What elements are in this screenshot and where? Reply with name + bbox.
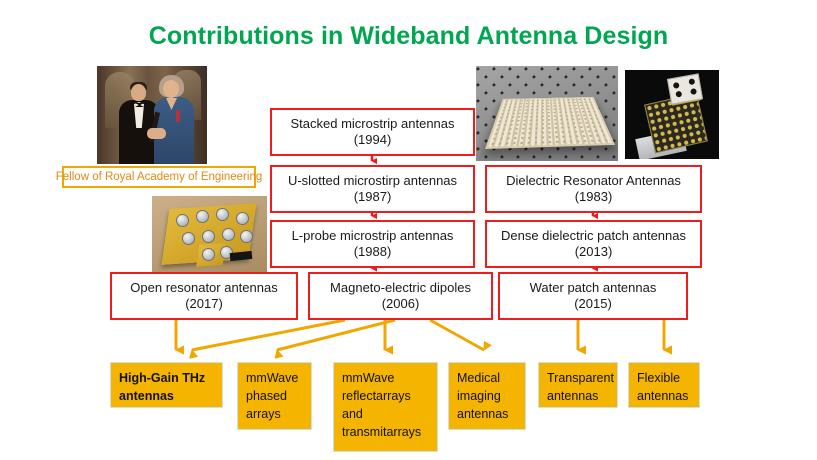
flow-box-year: (2017) (185, 296, 223, 312)
leaf-box-mmwave-reflectarrays-and-transmitarrays[interactable]: mmWave reflectarrays and transmitarrays (333, 362, 438, 452)
flow-box-dielectric-resonator-antennas[interactable]: Dielectric Resonator Antennas (1983) (485, 165, 702, 213)
flow-box-stacked-microstrip-antennas[interactable]: Stacked microstrip antennas (1994) (270, 108, 475, 156)
flow-box-year: (1987) (354, 189, 392, 205)
flow-box-title: L-probe microstrip antennas (292, 228, 454, 244)
leaf-box-high-gain-thz-antennas[interactable]: High-Gain THz antennas (110, 362, 223, 408)
flow-box-title: Dielectric Resonator Antennas (506, 173, 681, 189)
flow-box-dense-dielectric-patch-antennas[interactable]: Dense dielectric patch antennas (2013) (485, 220, 702, 268)
flow-box-water-patch-antennas[interactable]: Water patch antennas (2015) (498, 272, 688, 320)
slide-canvas: Contributions in Wideband Antenna Design (0, 0, 817, 460)
flow-box-year: (1988) (354, 244, 392, 260)
flow-box-l-probe-microstrip-antennas[interactable]: L-probe microstrip antennas (1988) (270, 220, 475, 268)
flow-box-title: Magneto-electric dipoles (330, 280, 471, 296)
flow-box-title: Open resonator antennas (130, 280, 277, 296)
flow-box-title: U-slotted microstirp antennas (288, 173, 457, 189)
flow-box-year: (1994) (354, 132, 392, 148)
flow-box-year: (2015) (574, 296, 612, 312)
flow-box-year: (2006) (382, 296, 420, 312)
leaf-box-mmwave-phased-arrays[interactable]: mmWave phased arrays (237, 362, 312, 430)
flow-box-title: Water patch antennas (530, 280, 657, 296)
flow-box-open-resonator-antennas[interactable]: Open resonator antennas (2017) (110, 272, 298, 320)
flow-box-u-slotted-microstrip-antennas[interactable]: U-slotted microstirp antennas (1987) (270, 165, 475, 213)
flow-box-title: Stacked microstrip antennas (290, 116, 454, 132)
leaf-box-flexible-antennas[interactable]: Flexible antennas (628, 362, 700, 408)
flow-box-title: Dense dielectric patch antennas (501, 228, 686, 244)
leaf-box-medical-imaging-antennas[interactable]: Medical imaging antennas (448, 362, 526, 430)
flow-box-year: (2013) (575, 244, 613, 260)
leaf-box-transparent-antennas[interactable]: Transparent antennas (538, 362, 618, 408)
flow-box-magneto-electric-dipoles[interactable]: Magneto-electric dipoles (2006) (308, 272, 493, 320)
flow-box-year: (1983) (575, 189, 613, 205)
